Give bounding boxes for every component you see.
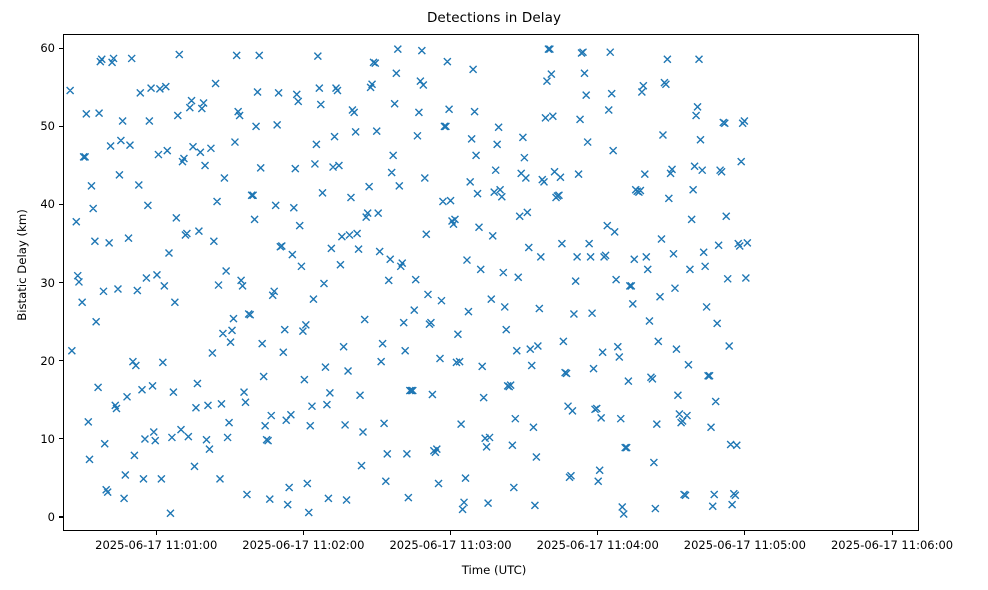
y-tick-mark-group xyxy=(0,34,63,531)
x-tick-label: 2025-06-17 11:06:00 xyxy=(831,538,953,552)
x-tick-label: 2025-06-17 11:01:00 xyxy=(95,538,217,552)
x-tick-mark xyxy=(450,531,451,535)
x-axis-label: Time (UTC) xyxy=(0,563,988,577)
x-tick-mark xyxy=(744,531,745,535)
scatter-layer xyxy=(64,35,919,531)
chart-title: Detections in Delay xyxy=(0,10,988,26)
x-tick-mark xyxy=(303,531,304,535)
x-tick-label: 2025-06-17 11:04:00 xyxy=(537,538,659,552)
x-tick-label: 2025-06-17 11:02:00 xyxy=(242,538,364,552)
x-tick-label-group: 2025-06-17 11:01:002025-06-17 11:02:0020… xyxy=(63,538,919,554)
x-tick-label: 2025-06-17 11:03:00 xyxy=(389,538,511,552)
x-tick-mark xyxy=(892,531,893,535)
x-tick-mark-group xyxy=(63,531,919,537)
x-tick-mark xyxy=(156,531,157,535)
x-tick-mark xyxy=(597,531,598,535)
x-tick-label: 2025-06-17 11:05:00 xyxy=(684,538,806,552)
matplotlib-figure: Detections in Delay Bistatic Delay (km) … xyxy=(0,0,988,590)
scatter-points xyxy=(67,46,751,518)
plot-area xyxy=(63,34,919,531)
